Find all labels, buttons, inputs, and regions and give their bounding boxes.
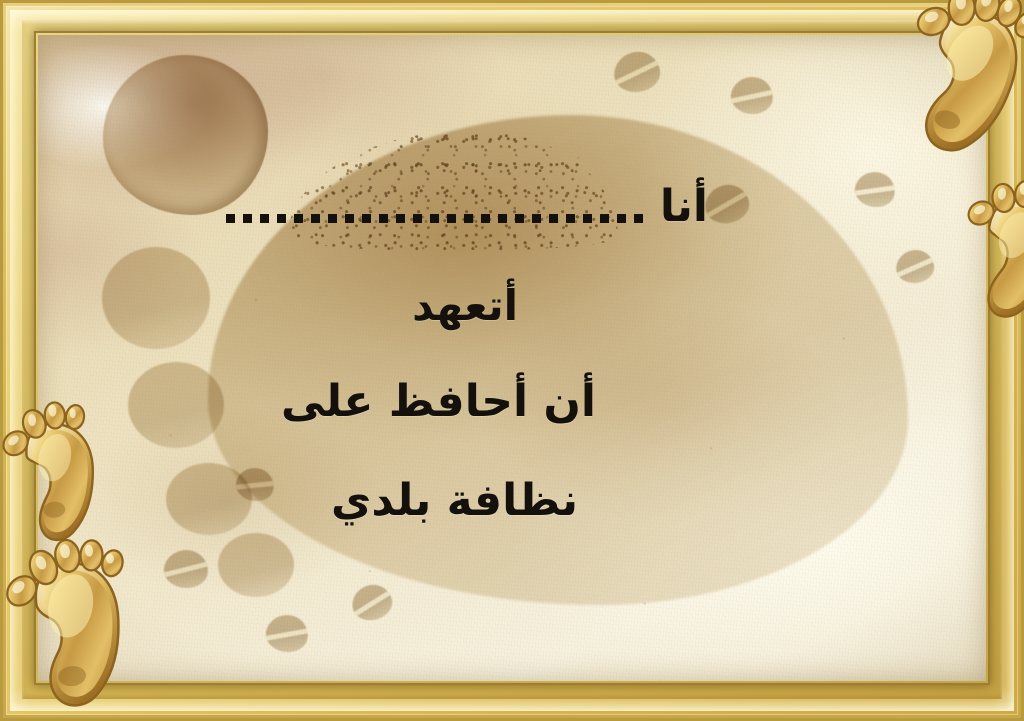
footprint-stamp-body (63, 618, 111, 661)
paper-speckle-texture (38, 35, 986, 681)
watermark-foot-big-toe-edge (103, 55, 268, 215)
footprint-stamp-body (852, 169, 897, 210)
footprint-stamp (894, 248, 935, 285)
footprint-stamp-body (348, 581, 395, 625)
pledge-line-1: أنا (226, 181, 708, 232)
paper-grain-texture (38, 35, 986, 681)
footprint-stamp (702, 181, 753, 227)
watermark-foot-toe-1 (102, 247, 210, 349)
footprint-stamp (264, 612, 311, 654)
footprint-stamp (233, 464, 277, 504)
watermark-foot-stipple (288, 131, 618, 251)
footprint-stamp-body (264, 612, 311, 654)
footprint-stamp (852, 169, 897, 210)
footprint-stamp (611, 49, 662, 95)
pledge-poster: أنا أتعهد أن أحافظ على نظافة بلدي (0, 0, 1024, 721)
footprint-stamp-body (894, 248, 935, 285)
footprint-stamp-body (163, 549, 210, 590)
footprint-stamp (63, 618, 111, 661)
watermark-foot-big-toe (103, 55, 268, 215)
footprint-stamp-body (729, 75, 775, 116)
footprint-stamp-body (233, 464, 277, 504)
name-blank-rule (226, 214, 646, 223)
pledge-text: أنا أتعهد أن أحافظ على نظافة بلدي (38, 35, 986, 681)
pledge-line-2: أتعهد (412, 281, 518, 330)
pledge-line-4: نظافة بلدي (331, 475, 578, 526)
scan-vignette (38, 35, 986, 681)
footprint-stamp (348, 581, 395, 625)
watermark-foot-toe-2 (128, 362, 224, 448)
footprint-stamp (729, 75, 775, 116)
watermark-foot-sole (208, 115, 908, 605)
pledge-line-1-label: أنا (660, 181, 708, 232)
pledge-line-3: أن أحافظ على (281, 376, 596, 427)
footprint-stamp (163, 549, 210, 590)
footprint-stamp-body (611, 49, 662, 95)
parchment-artwork: أنا أتعهد أن أحافظ على نظافة بلدي (38, 35, 986, 681)
watermark-foot-toe-4 (218, 533, 294, 597)
footprint-stamp-body (702, 181, 753, 227)
watermark-foot-toe-3 (166, 463, 252, 535)
